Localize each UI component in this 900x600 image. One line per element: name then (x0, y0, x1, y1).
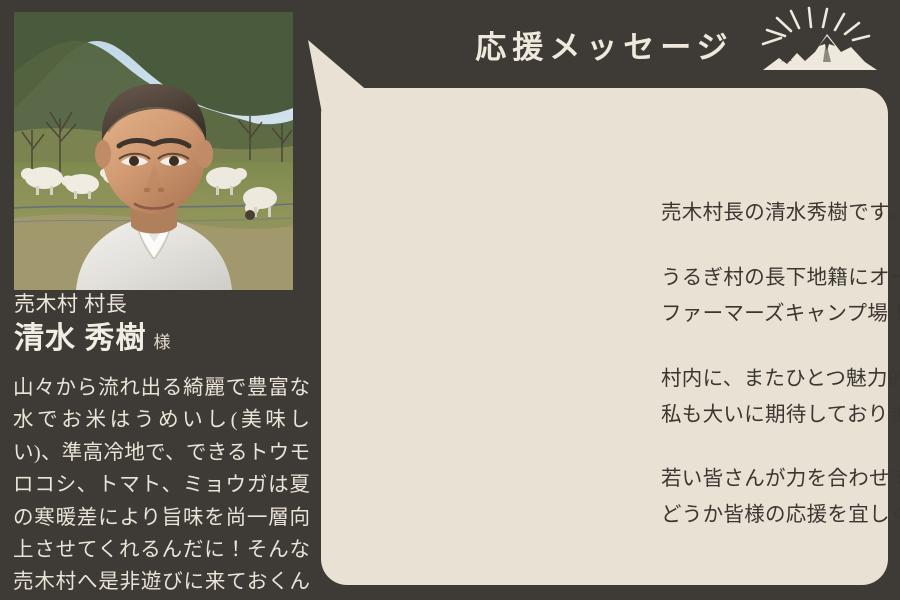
profile-name-row: 清水 秀樹様 (14, 324, 171, 354)
profile-column: 売木村 村長 清水 秀樹様 山々から流れ出る綺麗で豊富な水でお米はうめいし(美味… (0, 0, 310, 600)
message-paragraph: 若い皆さんが力を合わせて頑張っております。どうか皆様の応援を宜しくお願い致します… (661, 462, 900, 534)
message-body: 売木村長の清水秀樹です。うるぎ村の長下地籍にオープンするファーマーズキャンプ場！… (661, 196, 900, 534)
message-line: どうか皆様の応援を宜しくお願い致します。 (661, 498, 900, 534)
message-line: ファーマーズキャンプ場！ (661, 297, 900, 333)
profile-honorific: 様 (154, 333, 172, 352)
message-line: うるぎ村の長下地籍にオープンする (661, 261, 900, 297)
message-paragraph: 村内に、またひとつ魅力的な施設ができます。私も大いに期待しております。 (661, 362, 900, 434)
support-message-panel: 売木村 村長 清水 秀樹様 山々から流れ出る綺麗で豊富な水でお米はうめいし(美味… (0, 0, 900, 600)
profile-role: 売木村 村長 (14, 294, 127, 315)
message-line: 私も大いに期待しております。 (661, 398, 900, 434)
message-paragraph: 売木村長の清水秀樹です。 (661, 196, 900, 232)
message-line: 売木村長の清水秀樹です。 (661, 196, 900, 232)
profile-photo-image (14, 12, 293, 290)
profile-name: 清水 秀樹 (14, 322, 147, 355)
message-line: 若い皆さんが力を合わせて頑張っております。 (661, 462, 900, 498)
message-paragraph: うるぎ村の長下地籍にオープンするファーマーズキャンプ場！ (661, 261, 900, 333)
mountain-sunburst-icon (757, 6, 887, 84)
message-line: 村内に、またひとつ魅力的な施設ができます。 (661, 362, 900, 398)
profile-bio: 山々から流れ出る綺麗で豊富な水でお米はうめいし(美味しい)、準高冷地で、できるト… (13, 372, 310, 600)
profile-photo (14, 12, 293, 290)
speech-bubble: 売木村長の清水秀樹です。うるぎ村の長下地籍にオープンするファーマーズキャンプ場！… (321, 88, 888, 585)
